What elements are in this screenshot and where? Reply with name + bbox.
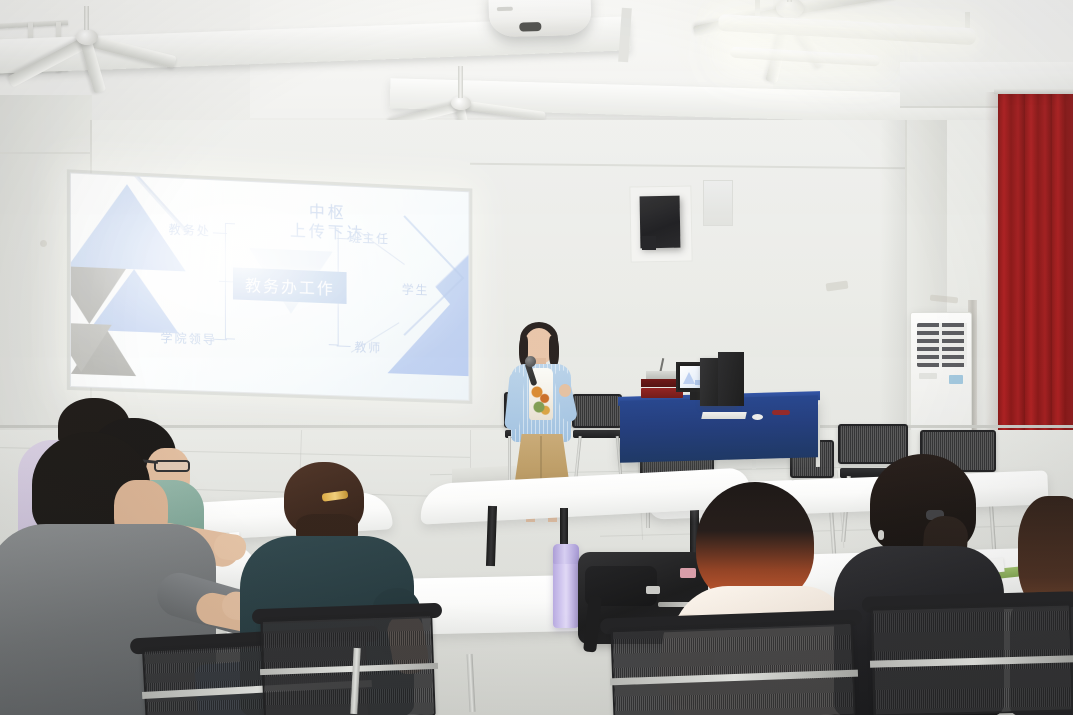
thermos-cap — [553, 544, 579, 564]
remote-control[interactable] — [772, 410, 790, 415]
projector-lens-icon — [519, 22, 541, 32]
backpack-buckle — [646, 586, 660, 594]
presenter-floral-pattern — [531, 384, 551, 416]
ac-grille-overlay — [917, 323, 967, 367]
fan-rod — [787, 0, 792, 2]
mouse[interactable] — [752, 414, 763, 420]
earring-icon — [878, 530, 884, 540]
slide-node-label-xs: 学生 — [402, 280, 430, 298]
keyboard[interactable] — [701, 412, 746, 419]
wall-patch — [40, 240, 47, 247]
fan-hub — [76, 29, 98, 45]
presenter-right-hand — [559, 384, 571, 397]
table-leg — [560, 508, 568, 544]
presenter — [500, 322, 590, 502]
av-equipment-dark-red — [641, 379, 681, 387]
slide-connector — [213, 232, 227, 234]
wall-seam — [0, 152, 92, 154]
wall-vent — [703, 180, 733, 226]
fan-rod — [458, 66, 463, 98]
microphone-head-icon — [525, 356, 536, 367]
projector-vent — [497, 7, 513, 11]
fan-rod — [84, 6, 89, 30]
ac-control-panel — [919, 373, 937, 379]
slide-connector — [337, 345, 351, 347]
pc-tower-secondary — [718, 352, 744, 406]
slide-surface: 中枢 上传下达 教务办工作 教务处 学院领导 班主任 学生 教师 — [70, 172, 470, 400]
classroom-photo-scene: 中枢 上传下达 教务办工作 教务处 学院领导 班主任 学生 教师 — [0, 0, 1073, 715]
projection-screen: 中枢 上传下达 教务办工作 教务处 学院领导 班主任 学生 教师 — [70, 172, 470, 400]
fan-hub — [451, 96, 471, 110]
chair-backrest — [610, 622, 855, 715]
red-window-curtain — [998, 92, 1073, 460]
slide-node-label-js: 教师 — [354, 338, 382, 356]
slide-triangle-gray — [70, 322, 112, 373]
ac-brand-label — [949, 375, 963, 384]
monitor-slide-triangle — [683, 372, 695, 384]
speaker-mount-bracket — [642, 236, 656, 250]
slide-center-highlight: 教务办工作 — [233, 267, 347, 304]
curtain-rod — [994, 88, 1073, 94]
monitor-stand — [690, 392, 700, 400]
slide-node-label-xyld: 学院领导 — [160, 329, 216, 348]
slide-node-label-jwc: 教务处 — [169, 220, 211, 239]
ceiling-projector — [488, 0, 591, 37]
slide-node-label-bzr: 班主任 — [349, 228, 390, 247]
